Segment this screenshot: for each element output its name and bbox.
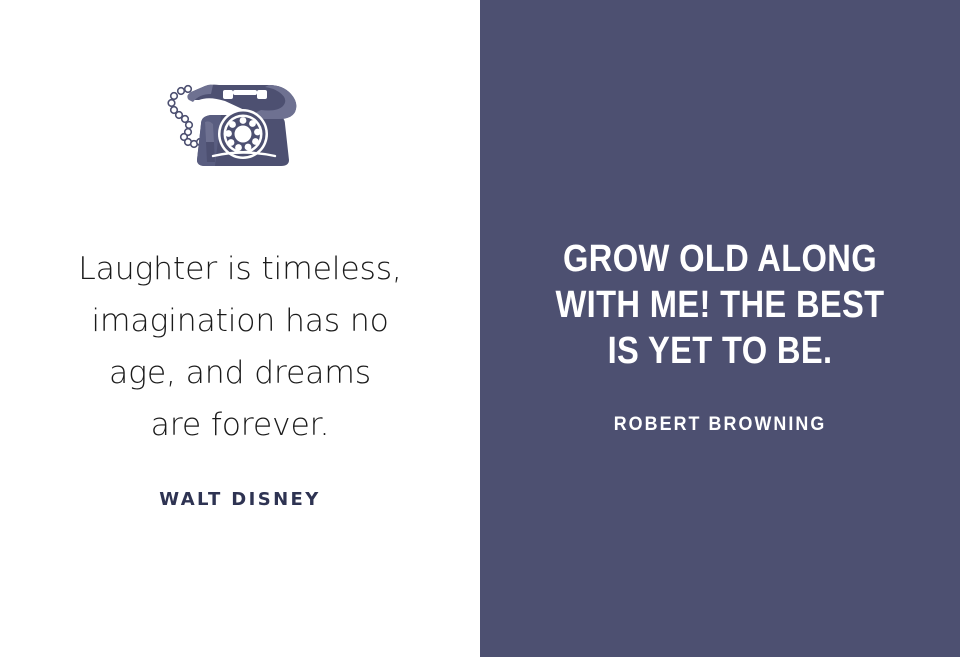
left-quote-attribution: WALT DISNEY: [0, 489, 480, 510]
right-quote-card: GROW OLD ALONG WITH ME! THE BEST IS YET …: [480, 0, 960, 657]
quote-poster: Laughter is timeless, imagination has no…: [0, 0, 960, 657]
left-quote-text: Laughter is timeless, imagination has no…: [0, 243, 480, 451]
rotary-telephone-icon: [0, 72, 480, 172]
right-quote-attribution: ROBERT BROWNING: [494, 414, 945, 436]
right-quote-text: GROW OLD ALONG WITH ME! THE BEST IS YET …: [514, 236, 927, 374]
left-quote-card: Laughter is timeless, imagination has no…: [0, 0, 480, 657]
